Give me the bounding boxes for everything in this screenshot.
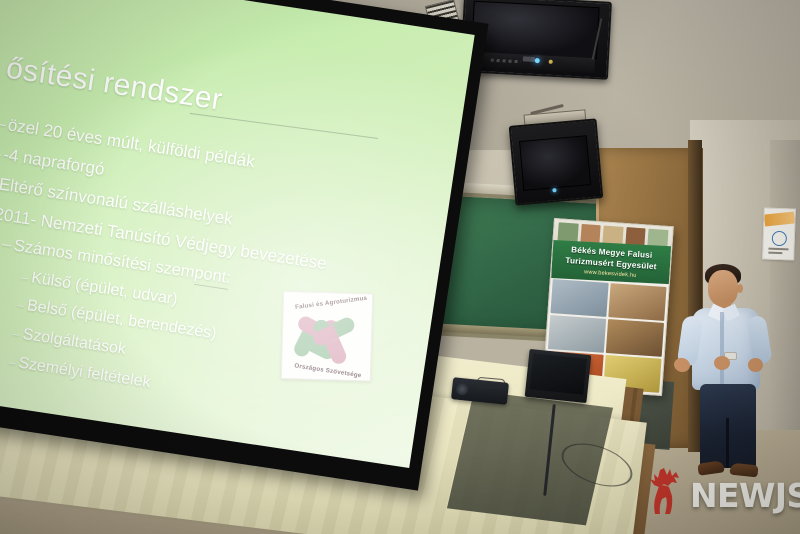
ear — [737, 284, 743, 293]
faosz-logo-text-top: Falusi és Agroturizmus — [295, 295, 368, 311]
faosz-logo: Falusi és Agroturizmus Országos Szövetsé… — [281, 291, 373, 381]
stag-icon — [646, 466, 688, 518]
wall-crt-television — [509, 118, 604, 205]
photo-scene: Békés Megye Falusi Turizmusért Egyesület… — [0, 0, 800, 534]
head — [708, 270, 738, 306]
projection-screen: ősítési rendszer –özel 20 éves múlt, kül… — [0, 0, 475, 468]
tv-brand-logo — [523, 56, 535, 62]
shirt-placket — [720, 312, 724, 386]
banner-photo — [548, 315, 606, 353]
watermark-text: NEWJSÁG — [690, 476, 800, 515]
tv-screen — [519, 135, 591, 191]
banner-photo — [550, 279, 608, 317]
laptop-computer[interactable] — [525, 349, 592, 403]
slide-bullet-text: Szolgáltatások — [22, 326, 127, 358]
poster-emblem-icon — [772, 231, 788, 247]
faosz-logo-text-bottom: Országos Szövetsége — [294, 362, 362, 379]
projector-lens-icon — [456, 383, 469, 396]
poster-text-line — [768, 252, 782, 254]
presenter — [676, 258, 780, 480]
banner-photo — [606, 319, 664, 357]
slide-title: ősítési rendszer — [4, 51, 225, 117]
slide-bullet-text: -4 napraforgó — [2, 145, 106, 179]
tv-screen — [471, 1, 600, 60]
projection-screen-frame: ősítési rendszer –özel 20 éves múlt, kül… — [0, 0, 488, 491]
wall-poster — [762, 207, 796, 260]
poster-color-band — [764, 211, 795, 226]
slide-bullet-list: –özel 20 éves múlt, külföldi példák –-4 … — [0, 114, 456, 445]
slide-title-underline — [190, 113, 378, 139]
hand-center — [714, 356, 730, 370]
banner-photo — [608, 283, 666, 321]
faosz-logo-text: Falusi és Agroturizmus Országos Szövetsé… — [282, 292, 372, 380]
poster-text-line — [768, 248, 788, 250]
hand-right — [748, 358, 763, 372]
leg-split — [726, 418, 729, 468]
tv-power-led-icon — [552, 188, 556, 192]
laptop-screen — [529, 353, 586, 394]
watermark: NEWJSÁG — [646, 466, 796, 524]
